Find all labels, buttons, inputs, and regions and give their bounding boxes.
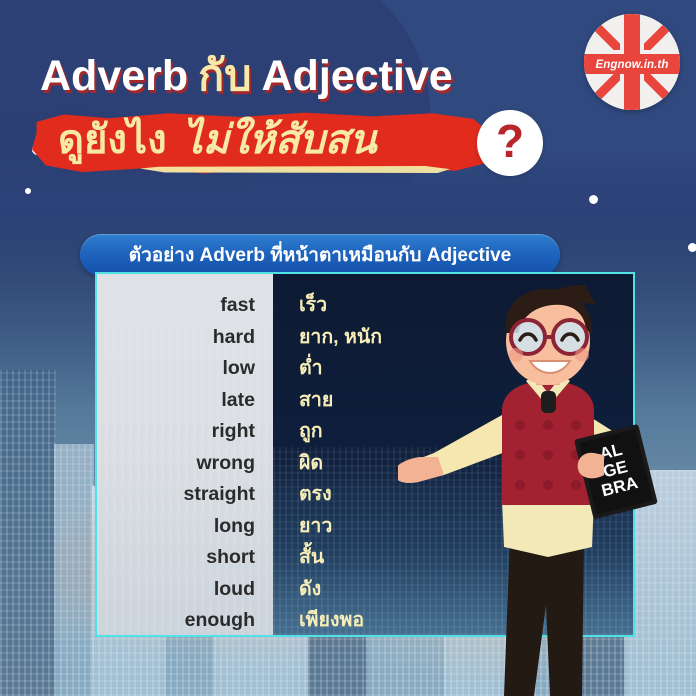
thai-word-item: ถูก <box>299 416 323 448</box>
decor-dot <box>25 188 31 194</box>
english-word-item: wrong <box>197 448 256 480</box>
english-word-item: straight <box>183 479 255 511</box>
english-word-item: right <box>212 416 255 448</box>
title-thai-part-1: ดูยังไง <box>58 118 167 162</box>
english-word-item: hard <box>213 322 255 354</box>
page-title-line-1: AdverbกับAdjective <box>40 55 453 98</box>
teacher-character-illustration: AL GE BRA <box>398 285 696 696</box>
thai-word-item: ยาว <box>299 511 332 543</box>
decor-dot <box>688 243 696 252</box>
title-underline-stroke <box>140 166 450 173</box>
english-word-item: enough <box>185 605 255 635</box>
thai-word-item: สาย <box>299 385 333 417</box>
english-word-item: low <box>223 353 256 385</box>
english-word-item: fast <box>220 290 255 322</box>
thai-word-item: ต่ำ <box>299 353 323 385</box>
brand-url-label: Engnow.in.th <box>584 55 680 74</box>
section-banner-label: ตัวอย่าง Adverb ที่หน้าตาเหมือนกับ Adjec… <box>129 240 512 270</box>
thai-word-item: สั้น <box>299 542 324 574</box>
english-word-item: loud <box>214 574 255 606</box>
thai-word-item: ผิด <box>299 448 323 480</box>
title-thai-part-2: ไม่ให้สับสน <box>183 118 377 162</box>
thai-word-item: ยาก, หนัก <box>299 322 382 354</box>
english-word-list: fasthardlowlaterightwrongstraightlongsho… <box>97 274 273 635</box>
title-thai-conjunction: กับ <box>198 52 251 100</box>
page-title-line-2: ดูยังไงไม่ให้สับสน <box>58 117 377 163</box>
decor-dot <box>589 195 598 204</box>
thai-word-item: ตรง <box>299 479 332 511</box>
english-word-item: late <box>221 385 255 417</box>
title-word-adverb: Adverb <box>40 52 188 100</box>
title-word-adjective: Adjective <box>262 52 453 100</box>
english-word-item: short <box>206 542 255 574</box>
question-mark-badge: ? <box>477 110 543 176</box>
thai-word-item: เพียงพอ <box>299 605 364 635</box>
thai-word-item: เร็ว <box>299 290 327 322</box>
english-words-column: fasthardlowlaterightwrongstraightlongsho… <box>97 274 273 635</box>
thai-word-item: ดัง <box>299 574 321 606</box>
poster-root: Engnow.in.th AdverbกับAdjective ดูยังไงไ… <box>0 0 696 696</box>
header-band <box>0 0 696 215</box>
uk-flag-circle-icon[interactable]: Engnow.in.th <box>584 14 680 110</box>
english-word-item: long <box>214 511 255 543</box>
section-banner: ตัวอย่าง Adverb ที่หน้าตาเหมือนกับ Adjec… <box>80 234 560 276</box>
